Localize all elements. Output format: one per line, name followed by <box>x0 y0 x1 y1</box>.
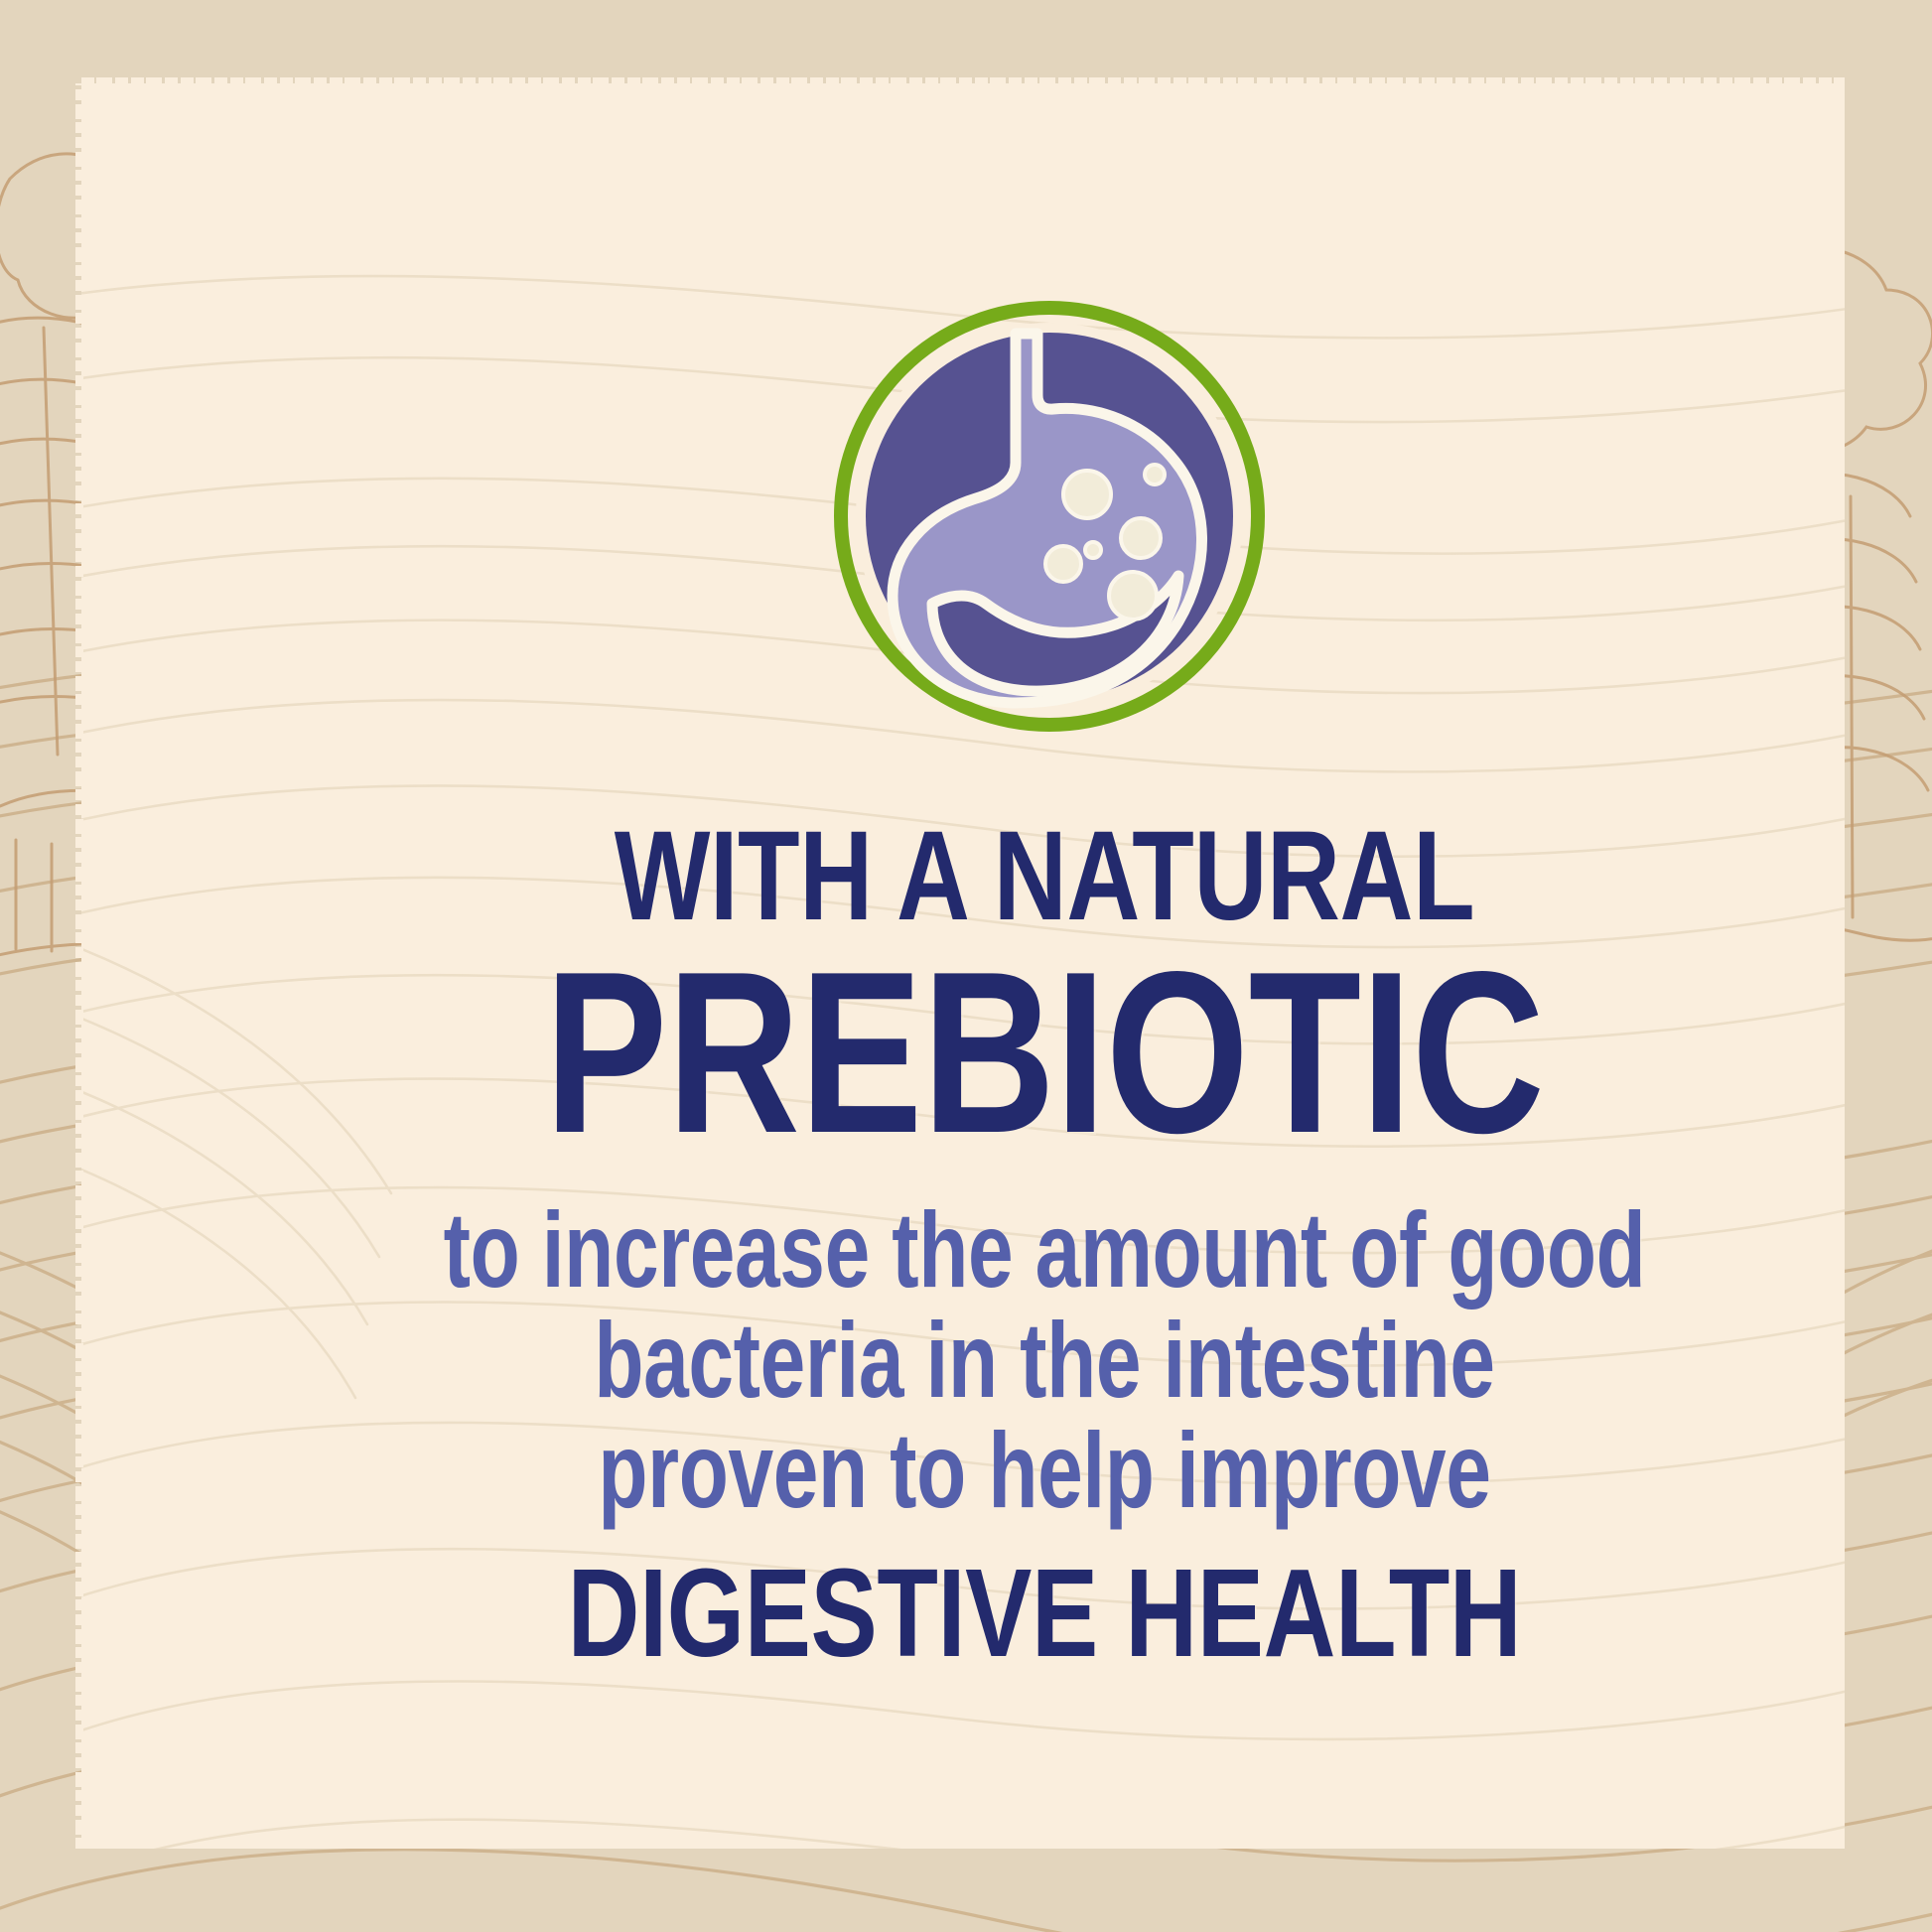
bubble-icon <box>1063 471 1111 518</box>
bubble-icon <box>1109 572 1157 620</box>
bubble-icon <box>1121 518 1161 558</box>
copy-block: WITH A NATURAL PREBIOTIC to increase the… <box>163 813 1926 1676</box>
kicker-headline: WITH A NATURAL <box>340 813 1750 940</box>
footer-headline: DIGESTIVE HEALTH <box>340 1551 1750 1676</box>
bubble-icon <box>1085 542 1101 558</box>
bubble-icon <box>1045 546 1081 582</box>
body-line-1: to increase the amount of good <box>374 1194 1715 1305</box>
page-title: PREBIOTIC <box>340 946 1750 1161</box>
poster-canvas: WITH A NATURAL PREBIOTIC to increase the… <box>0 0 1932 1932</box>
body-line-3: proven to help improve <box>374 1415 1715 1525</box>
digestive-health-logo <box>821 288 1278 745</box>
body-line-2: bacteria in the intestine <box>374 1305 1715 1415</box>
paper-panel: WITH A NATURAL PREBIOTIC to increase the… <box>81 83 1845 1849</box>
bubble-icon <box>1145 465 1165 484</box>
